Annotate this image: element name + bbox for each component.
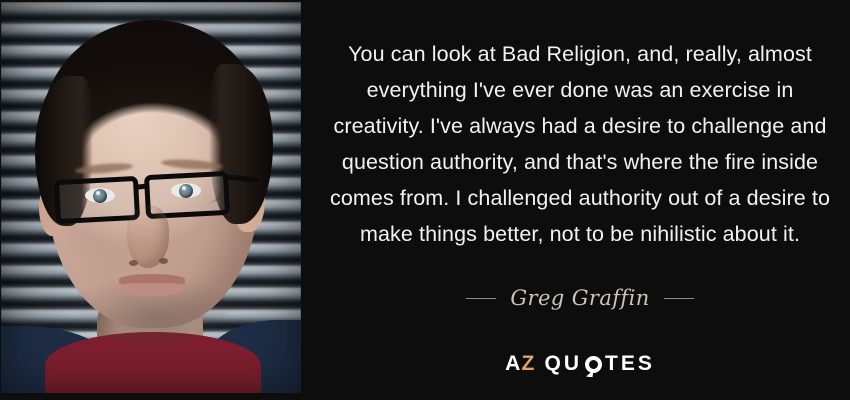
logo-letters-qu: QU xyxy=(545,352,583,376)
author-photo xyxy=(1,2,301,393)
speech-bubble-icon xyxy=(585,356,602,373)
quote-card: You can look at Bad Religion, and, reall… xyxy=(0,0,850,400)
quote-text: You can look at Bad Religion, and, reall… xyxy=(328,36,832,252)
portrait-figure xyxy=(1,2,301,393)
attribution: Greg Graffin xyxy=(310,286,850,310)
logo-letter-z: Z xyxy=(522,352,536,376)
logo-letters-tes: TES xyxy=(605,352,655,376)
attribution-rule-right xyxy=(664,298,694,299)
logo-letter-a: A xyxy=(505,352,521,376)
quote-panel: You can look at Bad Religion, and, reall… xyxy=(310,0,850,400)
lower-lip xyxy=(121,283,183,296)
azquotes-logo[interactable]: A Z QU TES xyxy=(310,352,850,376)
author-name: Greg Graffin xyxy=(510,286,649,310)
attribution-rule-left xyxy=(466,298,496,299)
lens-left xyxy=(54,176,140,224)
